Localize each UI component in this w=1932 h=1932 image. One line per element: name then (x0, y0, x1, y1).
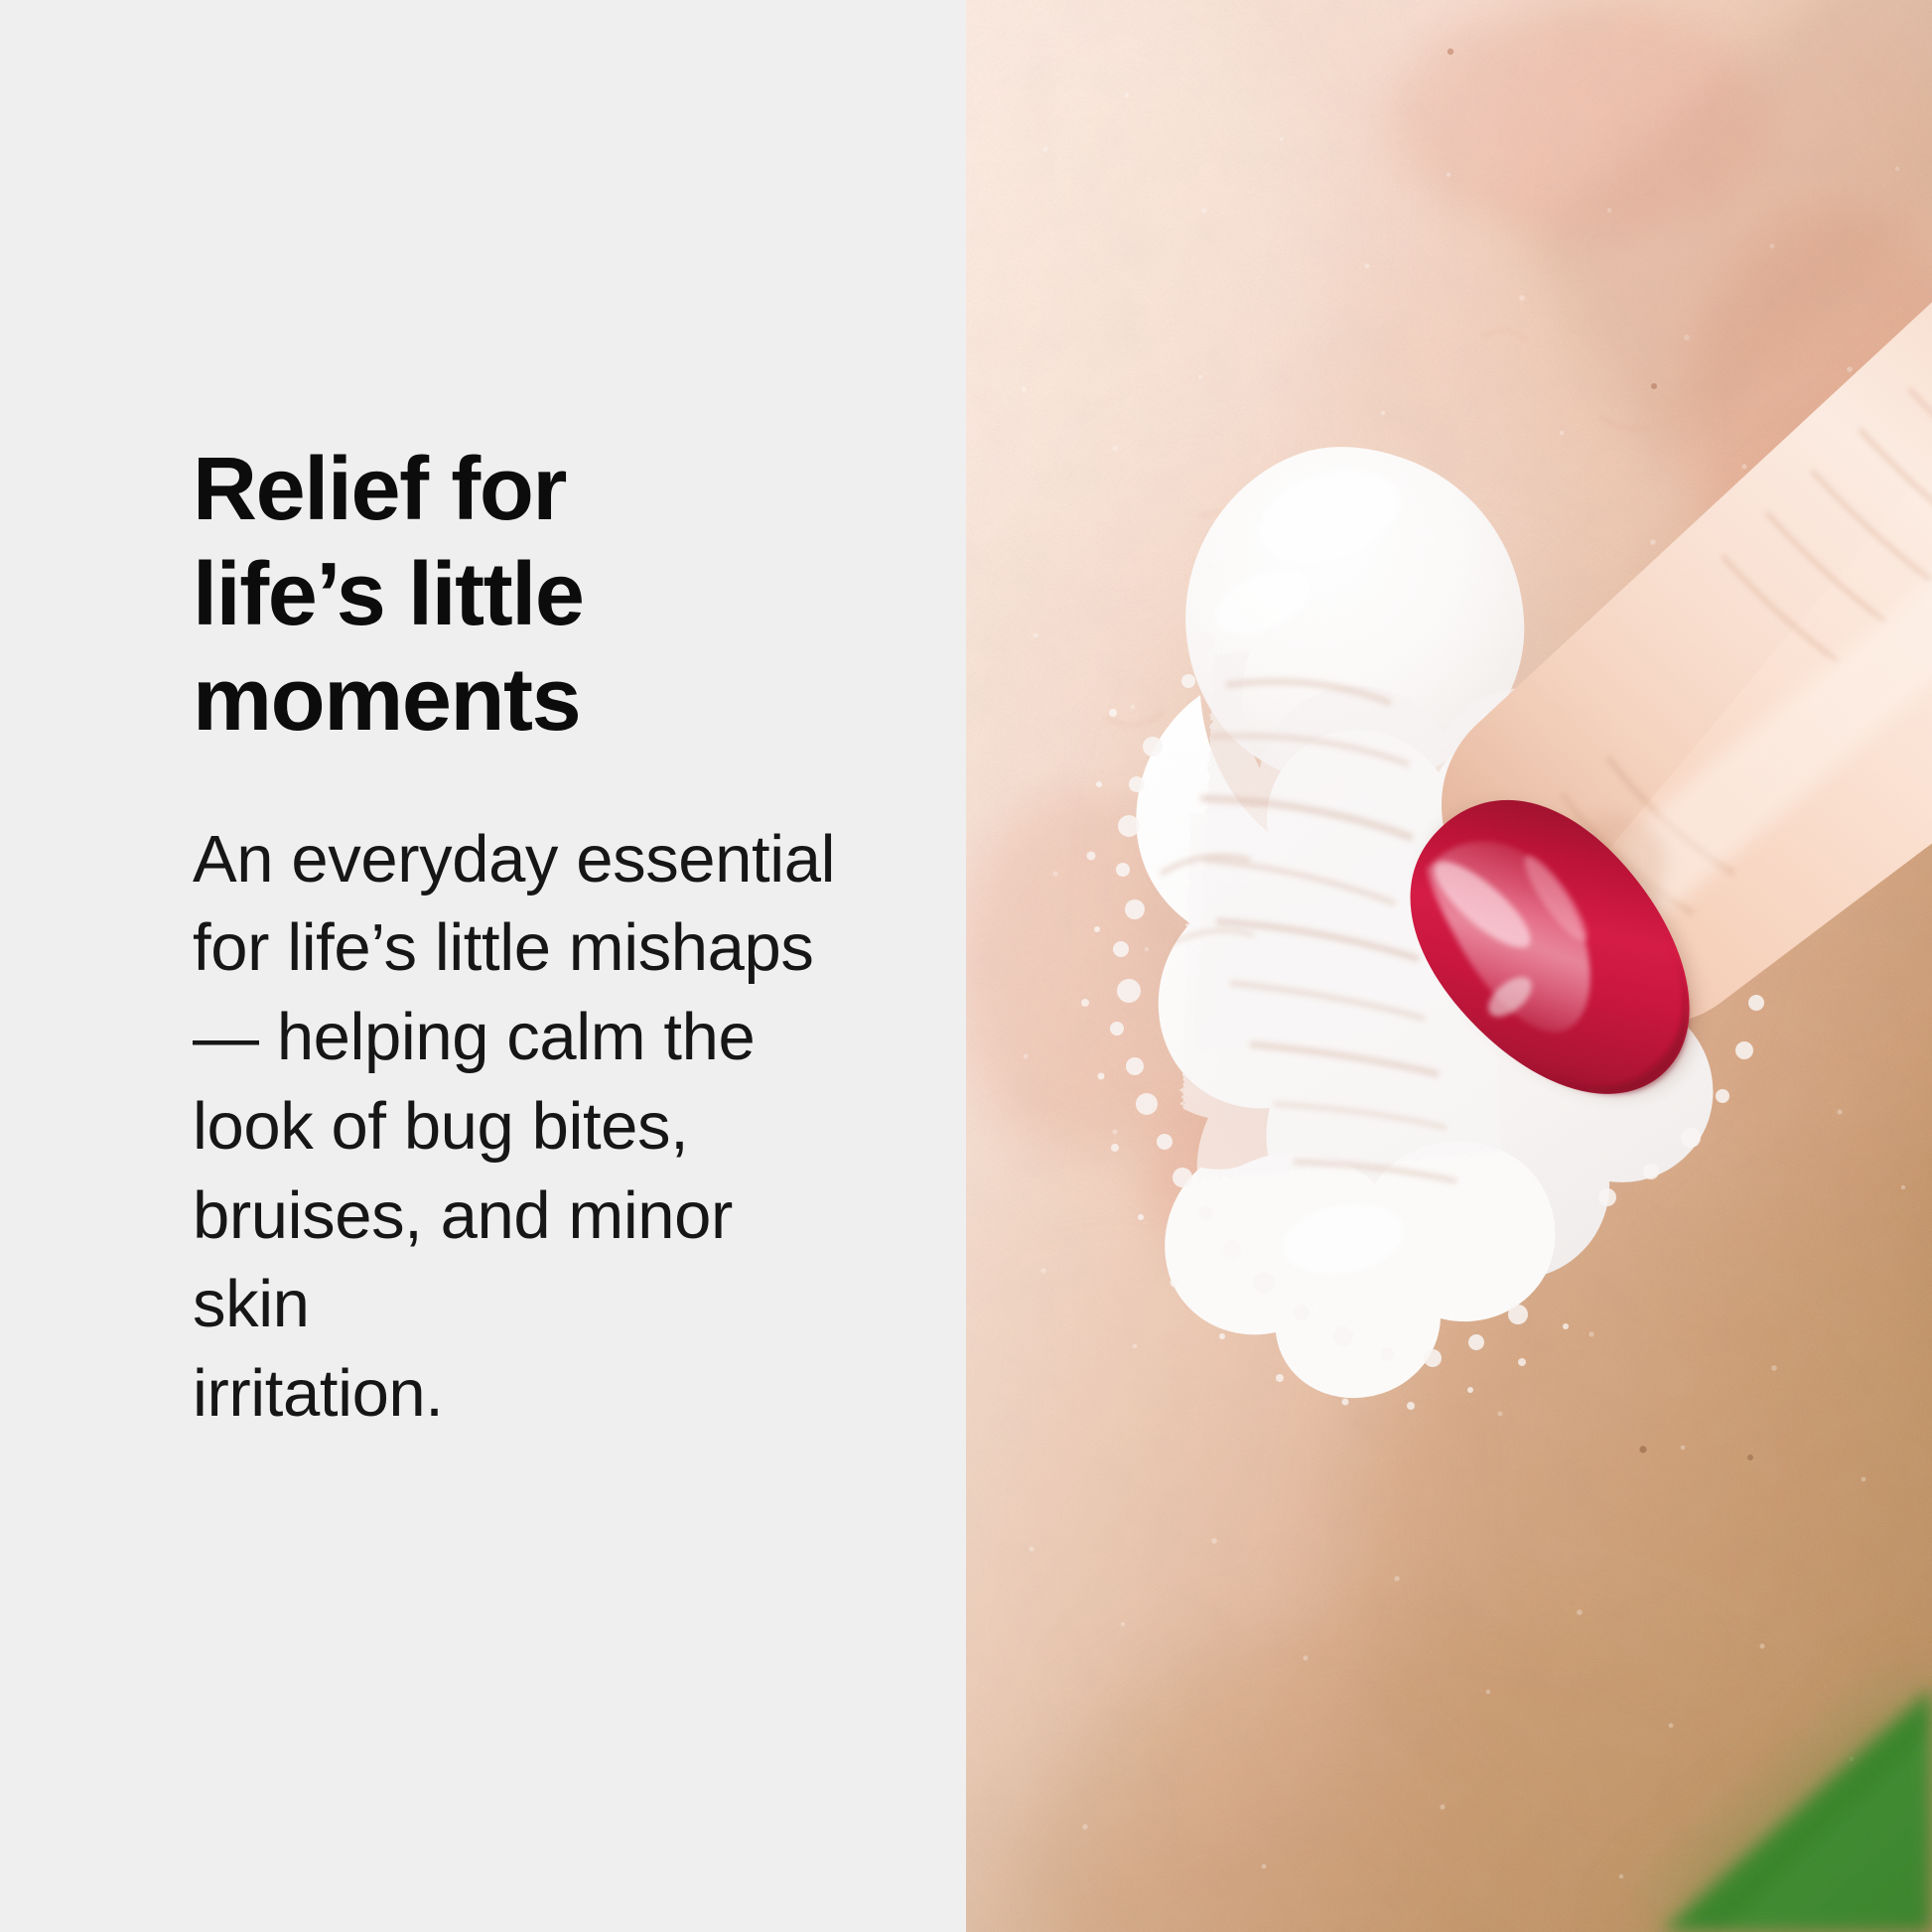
marketing-card: Relief for life’s little moments An ever… (0, 0, 1932, 1932)
page-title: Relief for life’s little moments (193, 437, 848, 754)
product-photo (966, 0, 1932, 1932)
skin-cream-photo-illustration (966, 0, 1932, 1932)
photo-grain (966, 0, 1932, 1932)
body-paragraph: An everyday essential for life’s little … (193, 754, 848, 1439)
text-panel: Relief for life’s little moments An ever… (0, 0, 966, 1932)
copy-block: Relief for life’s little moments An ever… (193, 437, 848, 1439)
